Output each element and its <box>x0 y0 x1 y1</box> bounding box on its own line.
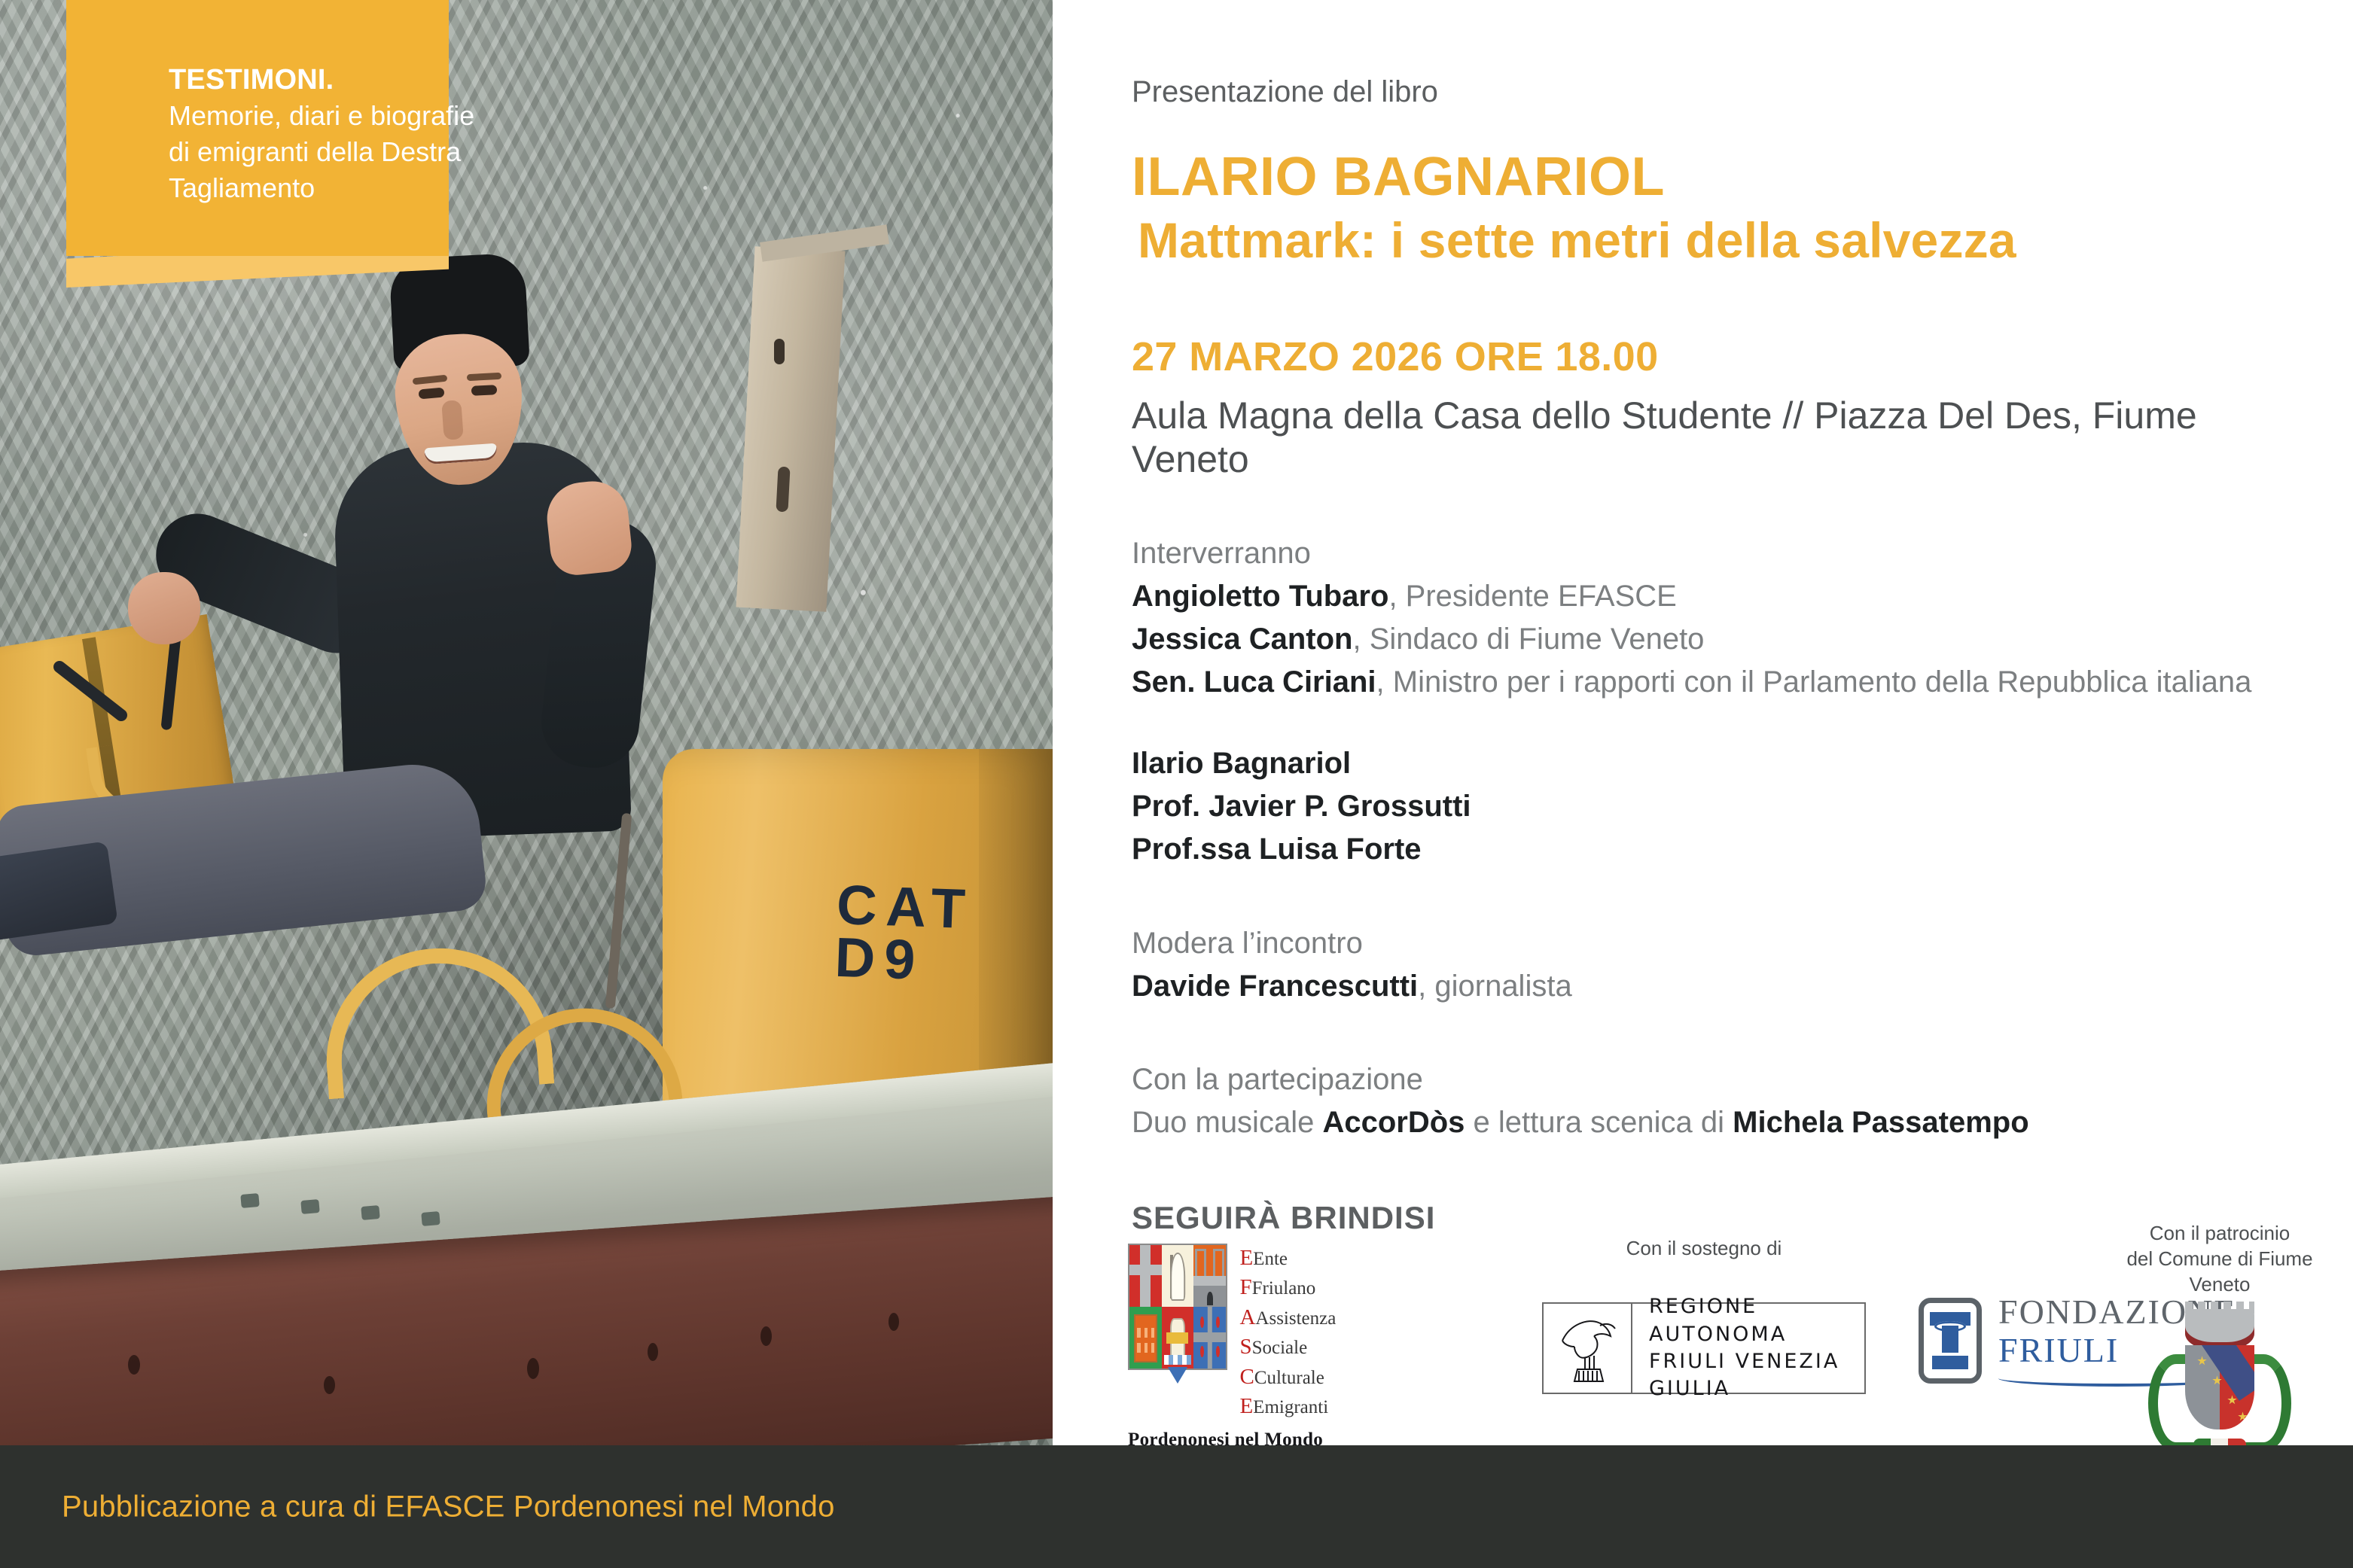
mural-crown <box>2185 1309 2254 1350</box>
presentation-kicker: Presentazione del libro <box>1132 75 2321 109</box>
crest-quarter-towers <box>1193 1245 1226 1307</box>
crest-quarter-castle <box>1129 1307 1162 1369</box>
series-subtitle-line-3: Tagliamento <box>169 171 492 206</box>
efasce-word: Culturale <box>1254 1368 1324 1388</box>
event-venue: Aula Magna della Casa dello Studente // … <box>1132 394 2321 481</box>
patronage-label-line-1: Con il patrocinio <box>2107 1221 2333 1247</box>
track-bolt <box>361 1205 379 1220</box>
track-bolt <box>421 1211 440 1226</box>
moderator-row: Davide Francescutti, giornalista <box>1132 965 2321 1008</box>
speaker-row: Sen. Luca Ciriani, Ministro per i rappor… <box>1132 661 2321 704</box>
crest-quarter-cross-red <box>1129 1245 1162 1307</box>
support-label: Con il sostegno di <box>1542 1236 1866 1262</box>
efasce-wordmark: EEnte FFriulano AAssistenza SSociale CCu… <box>1239 1244 1336 1422</box>
fondazione-column-icon <box>1919 1298 1982 1384</box>
crest-quarter-cross-blue <box>1193 1307 1226 1369</box>
series-title: TESTIMONI. <box>169 63 492 97</box>
moderator-block: Modera l’incontro Davide Francescutti, g… <box>1132 922 2321 1008</box>
participation-reader-name: Michela Passatempo <box>1733 1106 2029 1139</box>
logo-comune-fiume-veneto: Con il patrocinio del Comune di Fiume Ve… <box>2107 1221 2333 1460</box>
speaker-row: Jessica Canton, Sindaco di Fiume Veneto <box>1132 618 2321 661</box>
efasce-word: Sociale <box>1252 1338 1308 1358</box>
fvg-line-1: REGIONE AUTONOMA <box>1649 1293 1864 1347</box>
speaker-name: Sen. Luca Ciriani <box>1132 665 1376 699</box>
moderator-label: Modera l’incontro <box>1132 922 2321 965</box>
guest-name: Ilario Bagnariol <box>1132 742 2321 785</box>
track-bolt <box>240 1193 259 1208</box>
speaker-name: Jessica Canton <box>1132 623 1352 656</box>
blade-rivet <box>888 1313 899 1331</box>
speaker-role: , Ministro per i rapporti con il Parlame… <box>1376 665 2252 699</box>
participation-prefix: Duo musicale <box>1132 1106 1322 1139</box>
speaker-row: Angioletto Tubaro, Presidente EFASCE <box>1132 575 2321 618</box>
operator-left-hand <box>128 572 200 644</box>
operator-eye-right <box>471 385 498 396</box>
speakers-block: Interverranno Angioletto Tubaro, Preside… <box>1132 532 2321 703</box>
efasce-word: Emigranti <box>1253 1397 1328 1417</box>
blade-rivet <box>324 1376 335 1394</box>
efasce-word: Friulano <box>1252 1278 1316 1299</box>
book-author-title: ILARIO BAGNARIOL <box>1132 148 2321 206</box>
archival-photograph: CAT D9 <box>0 0 1053 1445</box>
efasce-word: Ente <box>1253 1249 1288 1269</box>
efasce-crest-icon <box>1128 1244 1227 1370</box>
efasce-initial: C <box>1239 1365 1254 1389</box>
speaker-name: Angioletto Tubaro <box>1132 580 1388 613</box>
moderator-name: Davide Francescutti <box>1132 970 1418 1003</box>
efasce-initial: E <box>1239 1394 1253 1418</box>
blade-rivet <box>648 1343 658 1361</box>
efasce-initial: F <box>1239 1275 1251 1299</box>
blade-rivet <box>527 1358 539 1379</box>
speakers-label: Interverranno <box>1132 532 2321 575</box>
blade-rivet <box>128 1355 140 1375</box>
crest-quarter-figure <box>1162 1245 1194 1307</box>
series-subtitle-line-2: di emigranti della Destra <box>169 135 492 169</box>
series-subtitle-line-1: Memorie, diari e biografie <box>169 99 492 133</box>
footer-bar: Pubblicazione a cura di EFASCE Pordenone… <box>0 1445 2353 1568</box>
patronage-label-line-2: del Comune di Fiume Veneto <box>2107 1247 2333 1298</box>
operator-figure <box>248 256 715 933</box>
book-subtitle: Mattmark: i sette metri della salvezza <box>1138 215 2321 267</box>
exhaust-bolt-upper <box>774 339 785 364</box>
participation-duo-name: AccorDòs <box>1322 1106 1465 1139</box>
fvg-eagle-icon <box>1544 1304 1632 1393</box>
track-bolt <box>300 1199 319 1214</box>
moderator-role: , giornalista <box>1418 970 1572 1003</box>
efasce-initial: A <box>1239 1305 1255 1329</box>
speaker-role: , Sindaco di Fiume Veneto <box>1352 623 1704 656</box>
series-callout-box: TESTIMONI. Memorie, diari e biografie di… <box>66 0 449 256</box>
participation-block: Con la partecipazione Duo musicale Accor… <box>1132 1058 2321 1144</box>
blade-rivet <box>760 1326 772 1346</box>
participation-label: Con la partecipazione <box>1132 1058 2321 1101</box>
exhaust-stack <box>736 246 846 612</box>
crest-quarter-gate <box>1162 1307 1194 1369</box>
operator-right-hand <box>544 478 634 578</box>
comune-crest-icon <box>2148 1309 2291 1460</box>
comune-shield <box>2185 1345 2254 1429</box>
event-poster: CAT D9 <box>0 0 2353 1568</box>
guests-block: Ilario Bagnariol Prof. Javier P. Grossut… <box>1132 742 2321 870</box>
logo-regione-fvg: Con il sostegno di <box>1542 1236 1866 1394</box>
bulldozer: CAT D9 <box>0 587 1053 1445</box>
machine-model-label: CAT D9 <box>834 878 975 988</box>
logo-strip: EEnte FFriulano AAssistenza SSociale CCu… <box>1053 1197 2353 1445</box>
efasce-initial: E <box>1239 1246 1253 1270</box>
efasce-word: Assistenza <box>1255 1308 1336 1329</box>
participation-row: Duo musicale AccorDòs e lettura scenica … <box>1132 1101 2321 1144</box>
operator-nose <box>441 400 464 440</box>
participation-middle: e lettura scenica di <box>1465 1106 1733 1139</box>
speaker-role: , Presidente EFASCE <box>1388 580 1676 613</box>
exhaust-bolt <box>776 467 790 513</box>
fvg-line-2: FRIULI VENEZIA GIULIA <box>1649 1348 1864 1402</box>
logo-efasce: EEnte FFriulano AAssistenza SSociale CCu… <box>1128 1244 1354 1451</box>
event-date: 27 MARZO 2026 ORE 18.00 <box>1132 333 2321 380</box>
guest-name: Prof.ssa Luisa Forte <box>1132 828 2321 871</box>
efasce-initial: S <box>1239 1335 1251 1359</box>
guest-name: Prof. Javier P. Grossutti <box>1132 785 2321 828</box>
footer-credit: Pubblicazione a cura di EFASCE Pordenone… <box>62 1490 835 1524</box>
